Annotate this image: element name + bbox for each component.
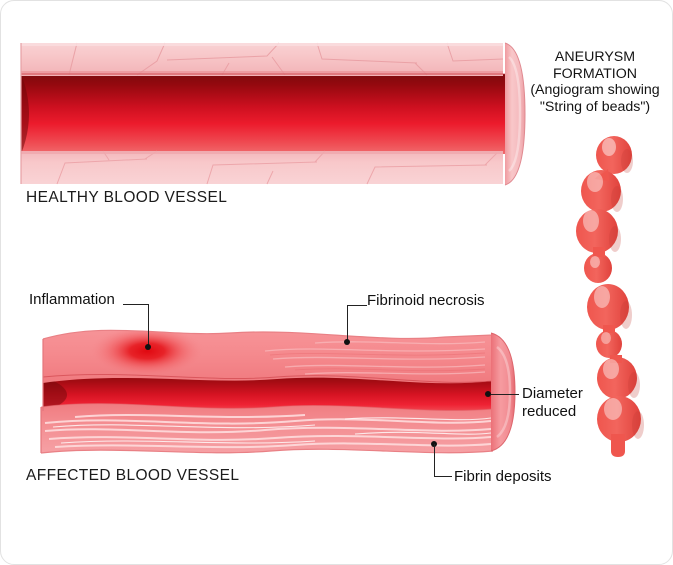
callout-fibrinoid-necrosis-anchor-dot <box>344 339 350 345</box>
angiogram-title-line3: (Angiogram showing <box>525 82 665 99</box>
figure-canvas: HEALTHY BLOOD VESSEL <box>0 0 673 565</box>
callout-fibrin-deposits-label: Fibrin deposits <box>454 468 552 486</box>
affected-blood-vessel-illustration <box>15 311 525 461</box>
callout-inflammation-label: Inflammation <box>29 291 115 309</box>
affected-vessel-caption: AFFECTED BLOOD VESSEL <box>26 467 239 485</box>
callout-fibrin-deposits-leader-vertical <box>434 444 435 477</box>
callout-fibrin-deposits-leader-horizontal <box>434 476 452 477</box>
callout-diameter-reduced-leader-horizontal <box>491 394 519 395</box>
string-of-beads-illustration <box>553 129 658 459</box>
angiogram-title-line4: "String of beads") <box>525 99 665 116</box>
healthy-vessel-lumen <box>21 74 507 154</box>
callout-fibrinoid-necrosis-leader-horizontal <box>347 305 367 306</box>
callout-inflammation-leader-vertical <box>148 304 149 347</box>
healthy-blood-vessel-illustration <box>17 41 527 186</box>
healthy-vessel-caption: HEALTHY BLOOD VESSEL <box>26 189 227 207</box>
callout-fibrinoid-necrosis-label: Fibrinoid necrosis <box>367 292 485 310</box>
angiogram-title-line2: FORMATION <box>525 66 665 83</box>
callout-inflammation-leader-horizontal <box>123 304 149 305</box>
callout-inflammation-anchor-dot <box>145 344 151 350</box>
callout-fibrinoid-necrosis-leader-vertical <box>347 305 348 342</box>
angiogram-title: ANEURYSM FORMATION (Angiogram showing "S… <box>525 49 665 115</box>
affected-vessel-end-cap <box>491 333 515 451</box>
healthy-vessel-lower-wall <box>21 151 507 184</box>
angiogram-title-line1: ANEURYSM <box>525 49 665 66</box>
